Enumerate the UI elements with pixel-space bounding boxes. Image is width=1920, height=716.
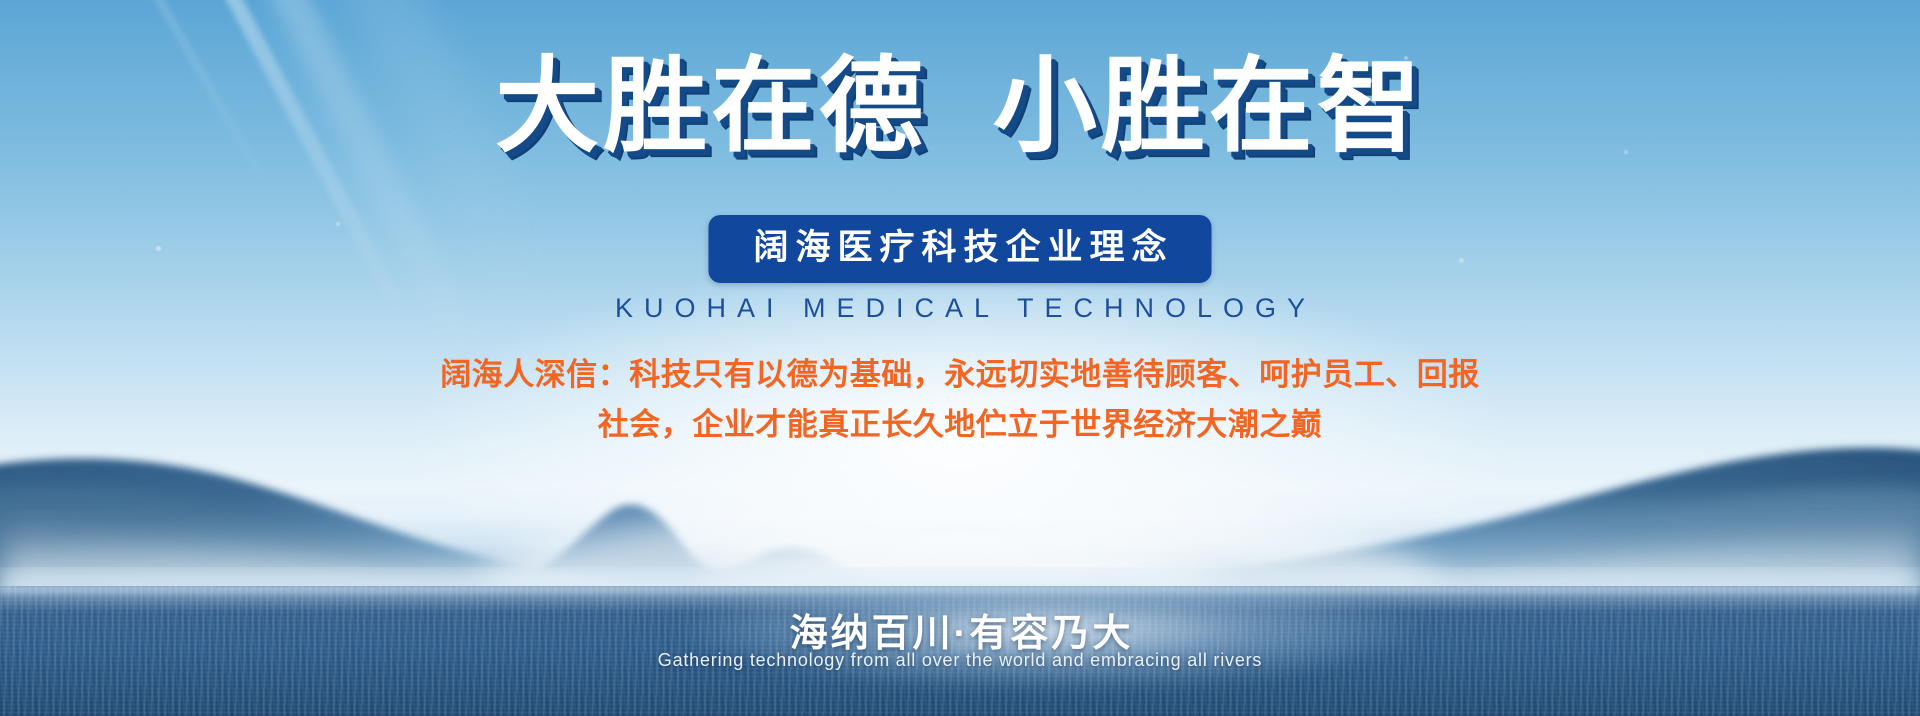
- english-subtitle: KUOHAI MEDICAL TECHNOLOGY: [0, 293, 1920, 324]
- bottom-motto-cn: 海纳百川·有容乃大: [0, 602, 1920, 657]
- banner-content: 大胜在德 小胜在智 阔海医疗科技企业理念 KUOHAI MEDICAL TECH…: [0, 0, 1920, 716]
- philosophy-paragraph: 阔海人深信：科技只有以德为基础，永远切实地善待顾客、呵护员工、回报社会，企业才能…: [430, 350, 1490, 450]
- kuohai-philosophy-banner: 大胜在德 小胜在智 阔海医疗科技企业理念 KUOHAI MEDICAL TECH…: [0, 0, 1920, 716]
- headline-slogan: 大胜在德 小胜在智: [0, 50, 1920, 164]
- bottom-motto-en: Gathering technology from all over the w…: [0, 650, 1920, 671]
- philosophy-badge: 阔海医疗科技企业理念: [708, 215, 1211, 283]
